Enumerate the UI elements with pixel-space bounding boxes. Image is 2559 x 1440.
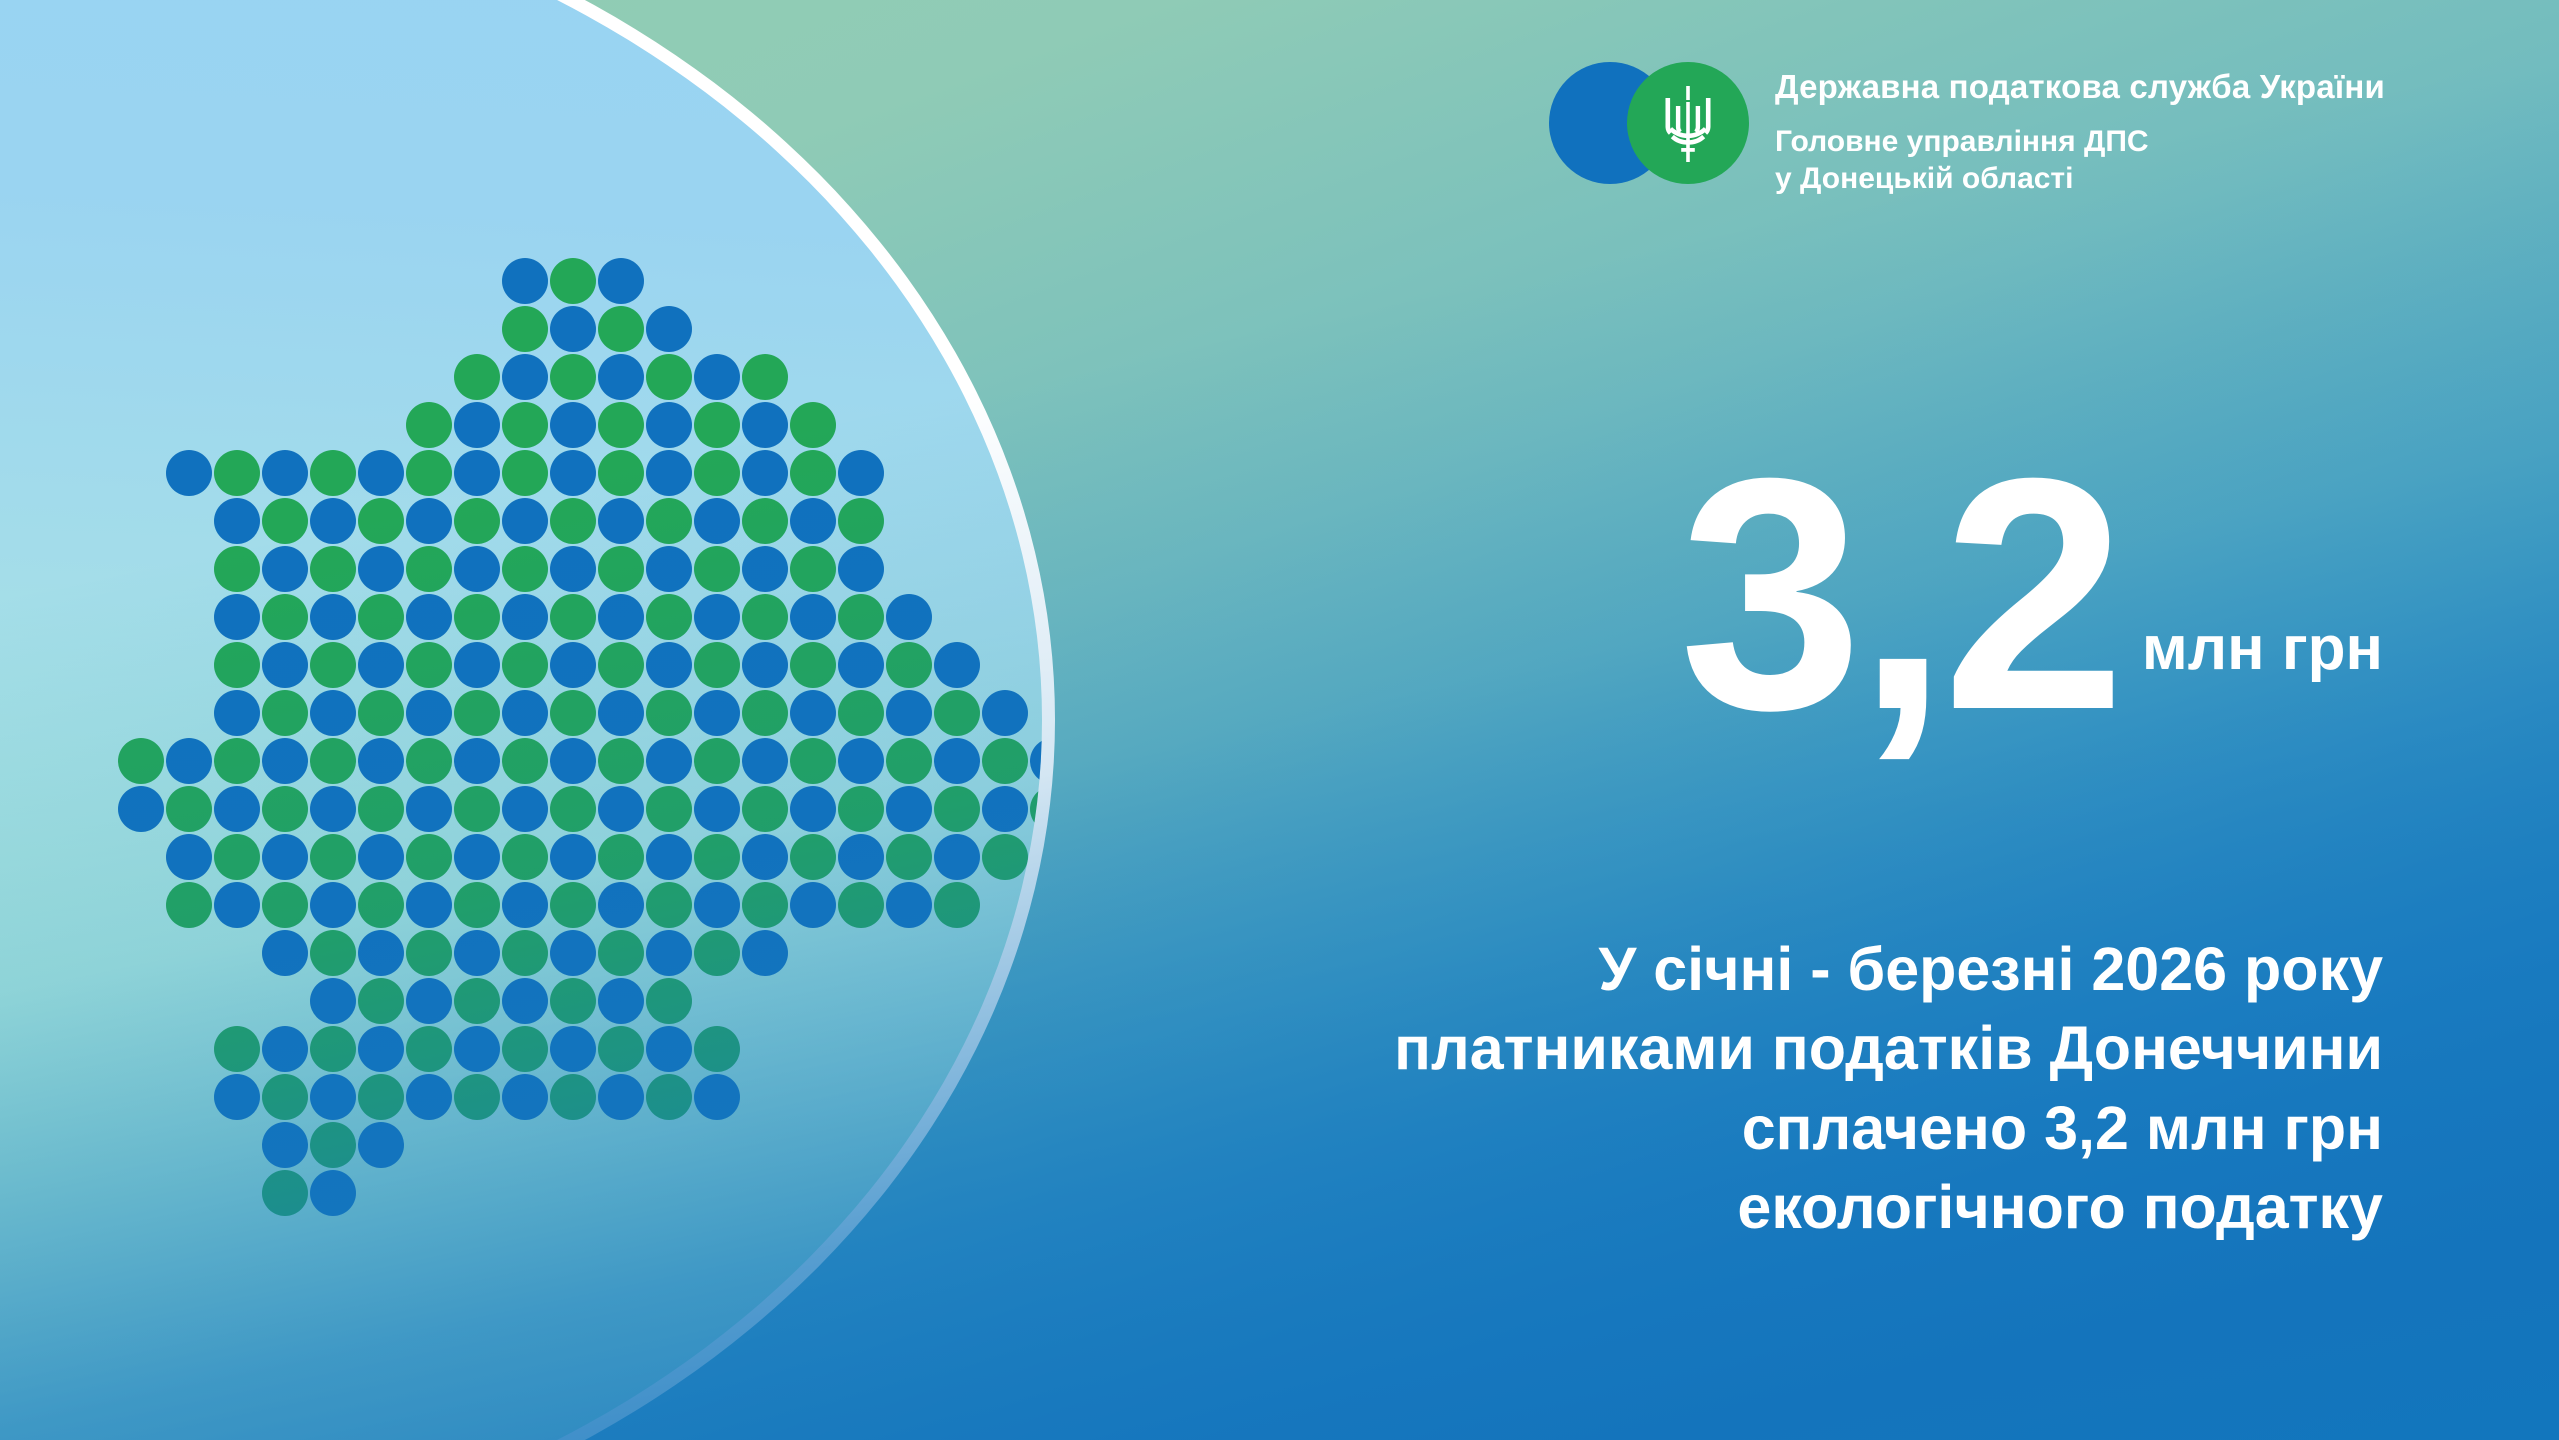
map-dot <box>406 498 452 544</box>
headline-line: екологічного податку <box>1063 1168 2383 1247</box>
map-dot <box>790 786 836 832</box>
map-dot <box>598 930 644 976</box>
headline-line: У січні - березні 2026 року <box>1063 930 2383 1009</box>
map-dot <box>694 498 740 544</box>
map-dot <box>262 1170 308 1216</box>
map-dot <box>310 930 356 976</box>
map-dot <box>742 594 788 640</box>
map-dot <box>310 690 356 736</box>
map-dot <box>214 546 260 592</box>
map-dot <box>262 642 308 688</box>
map-dot <box>790 738 836 784</box>
map-dot <box>550 690 596 736</box>
map-dot <box>310 1122 356 1168</box>
map-dot <box>166 882 212 928</box>
map-dot <box>454 1026 500 1072</box>
map-dot <box>742 450 788 496</box>
map-dot <box>646 594 692 640</box>
map-dot <box>454 738 500 784</box>
organization-name: Державна податкова служба України <box>1775 68 2385 107</box>
map-dot <box>646 354 692 400</box>
map-dot <box>262 1122 308 1168</box>
map-dot <box>454 498 500 544</box>
map-dot <box>502 738 548 784</box>
map-dot <box>838 738 884 784</box>
map-dot <box>406 738 452 784</box>
map-dot <box>406 1026 452 1072</box>
map-dot <box>406 594 452 640</box>
map-dot <box>790 498 836 544</box>
map-dot <box>406 450 452 496</box>
map-dot <box>454 930 500 976</box>
figure-value: 3,2 <box>1679 452 2120 736</box>
map-dot <box>502 450 548 496</box>
map-dot <box>550 402 596 448</box>
map-dot <box>694 690 740 736</box>
map-dot <box>454 882 500 928</box>
map-dot <box>358 738 404 784</box>
map-dot <box>886 594 932 640</box>
map-dot <box>742 786 788 832</box>
map-dot <box>694 834 740 880</box>
map-dot <box>790 882 836 928</box>
map-dot <box>406 882 452 928</box>
map-dot <box>406 402 452 448</box>
map-dot <box>694 546 740 592</box>
map-dot <box>310 1026 356 1072</box>
map-dot <box>598 450 644 496</box>
map-dot <box>742 498 788 544</box>
map-dot <box>310 1170 356 1216</box>
map-dot <box>454 978 500 1024</box>
map-dot <box>646 642 692 688</box>
map-dot <box>1030 786 1055 832</box>
map-dot <box>214 690 260 736</box>
map-dot <box>694 402 740 448</box>
map-dot <box>742 834 788 880</box>
map-dot <box>358 690 404 736</box>
map-dot <box>310 834 356 880</box>
map-dot <box>790 690 836 736</box>
map-dot <box>646 930 692 976</box>
map-dot <box>166 786 212 832</box>
map-dot <box>742 930 788 976</box>
map-dot <box>790 450 836 496</box>
map-dot <box>310 594 356 640</box>
map-dot <box>694 786 740 832</box>
map-dot <box>262 786 308 832</box>
map-dot <box>550 258 596 304</box>
map-dot <box>454 786 500 832</box>
map-dot <box>646 402 692 448</box>
map-dot <box>646 978 692 1024</box>
map-dot <box>838 690 884 736</box>
map-dot <box>310 642 356 688</box>
map-dot <box>502 882 548 928</box>
map-dot <box>454 642 500 688</box>
agency-logo <box>1549 62 1749 184</box>
map-dot <box>598 1026 644 1072</box>
map-dot <box>790 834 836 880</box>
map-dot <box>502 498 548 544</box>
map-dot <box>214 498 260 544</box>
map-dot <box>934 834 980 880</box>
map-dot <box>262 1074 308 1120</box>
map-dot <box>502 690 548 736</box>
map-dot <box>646 546 692 592</box>
map-dot <box>742 546 788 592</box>
map-dot <box>694 594 740 640</box>
map-dot <box>838 450 884 496</box>
map-dot <box>598 642 644 688</box>
map-dot <box>358 786 404 832</box>
map-dot <box>358 1026 404 1072</box>
map-dot <box>598 546 644 592</box>
map-dot <box>838 642 884 688</box>
map-dot <box>502 930 548 976</box>
map-dot <box>406 690 452 736</box>
map-dot <box>406 834 452 880</box>
map-dot <box>742 402 788 448</box>
map-dot <box>646 834 692 880</box>
map-dot <box>550 738 596 784</box>
map-dot <box>934 786 980 832</box>
left-oval-panel <box>0 0 1055 1440</box>
map-dot <box>646 1026 692 1072</box>
map-dot <box>358 978 404 1024</box>
map-dot <box>886 834 932 880</box>
tryzub-icon <box>1657 86 1719 162</box>
map-dot <box>406 930 452 976</box>
map-dot <box>838 594 884 640</box>
map-dot <box>646 690 692 736</box>
map-dot <box>454 834 500 880</box>
headline-line: сплачено 3,2 млн грн <box>1063 1089 2383 1168</box>
map-dot <box>646 306 692 352</box>
map-dot <box>550 594 596 640</box>
map-dot <box>598 738 644 784</box>
map-dot <box>262 930 308 976</box>
map-dot <box>214 594 260 640</box>
map-dot <box>598 594 644 640</box>
brand-header: Державна податкова служба України Головн… <box>1549 62 2385 197</box>
map-dot <box>454 546 500 592</box>
infographic-poster: Державна податкова служба України Головн… <box>0 0 2559 1440</box>
map-dot <box>790 642 836 688</box>
map-dot <box>694 642 740 688</box>
map-dot <box>934 882 980 928</box>
map-dot <box>502 402 548 448</box>
map-dot <box>982 690 1028 736</box>
map-dot <box>502 642 548 688</box>
map-dot <box>358 450 404 496</box>
map-dot <box>502 786 548 832</box>
map-dot <box>550 546 596 592</box>
map-dot <box>838 546 884 592</box>
map-dot <box>742 738 788 784</box>
map-dot <box>358 498 404 544</box>
map-dot <box>358 546 404 592</box>
map-dot <box>502 258 548 304</box>
map-dot <box>262 1026 308 1072</box>
map-dot <box>982 834 1028 880</box>
map-dot <box>694 450 740 496</box>
map-dot <box>598 402 644 448</box>
map-dot <box>262 690 308 736</box>
map-dot <box>646 498 692 544</box>
map-dot <box>262 594 308 640</box>
map-dot <box>694 738 740 784</box>
map-dot <box>262 498 308 544</box>
map-dot <box>598 498 644 544</box>
map-dot <box>502 594 548 640</box>
map-dot <box>550 882 596 928</box>
map-dot <box>214 1026 260 1072</box>
map-dot <box>358 1122 404 1168</box>
map-dot <box>214 1074 260 1120</box>
map-dot <box>358 834 404 880</box>
map-dot <box>646 738 692 784</box>
map-dot <box>598 882 644 928</box>
map-dot <box>550 354 596 400</box>
map-dot <box>406 546 452 592</box>
map-dot <box>310 738 356 784</box>
map-dot <box>934 738 980 784</box>
map-dot <box>550 930 596 976</box>
map-dot <box>406 1074 452 1120</box>
map-dot <box>790 402 836 448</box>
map-dot <box>502 546 548 592</box>
map-dot <box>598 690 644 736</box>
headline-line: платниками податків Донеччини <box>1063 1009 2383 1088</box>
map-dot <box>550 306 596 352</box>
map-dot <box>214 642 260 688</box>
map-dot <box>886 738 932 784</box>
map-dot <box>790 546 836 592</box>
map-dot <box>358 1074 404 1120</box>
map-dot <box>406 786 452 832</box>
map-dot <box>646 882 692 928</box>
map-dot <box>262 450 308 496</box>
map-dot <box>598 978 644 1024</box>
map-dot <box>310 498 356 544</box>
map-dot <box>790 594 836 640</box>
map-dot <box>214 738 260 784</box>
map-dot <box>406 978 452 1024</box>
map-dot <box>502 1026 548 1072</box>
map-dot <box>550 642 596 688</box>
department-name: Головне управління ДПС у Донецькій облас… <box>1775 124 2385 197</box>
map-dot <box>886 786 932 832</box>
map-dot <box>502 978 548 1024</box>
map-dot <box>406 642 452 688</box>
map-dot <box>262 738 308 784</box>
map-dot <box>598 258 644 304</box>
map-dot <box>262 546 308 592</box>
map-dot <box>454 450 500 496</box>
map-dot <box>694 1074 740 1120</box>
map-dot <box>454 402 500 448</box>
map-dot <box>166 738 212 784</box>
map-dot <box>262 882 308 928</box>
map-dot <box>550 450 596 496</box>
map-dot <box>598 834 644 880</box>
map-dot <box>886 882 932 928</box>
map-dot <box>358 882 404 928</box>
map-dot <box>502 1074 548 1120</box>
map-dot <box>310 786 356 832</box>
map-dot <box>646 786 692 832</box>
map-dot <box>502 354 548 400</box>
map-dot <box>1030 738 1055 784</box>
map-dot <box>358 642 404 688</box>
headline-text: У січні - березні 2026 рокуплатниками по… <box>1063 930 2383 1247</box>
map-dot <box>310 978 356 1024</box>
map-dot <box>646 450 692 496</box>
map-dot <box>838 498 884 544</box>
key-figure: 3,2 млн грн <box>1679 452 2383 736</box>
map-dot <box>502 834 548 880</box>
map-dot <box>694 354 740 400</box>
map-dot <box>550 1026 596 1072</box>
map-dot <box>598 306 644 352</box>
map-dot <box>214 834 260 880</box>
map-dot <box>550 498 596 544</box>
map-dot <box>598 786 644 832</box>
map-dot <box>742 690 788 736</box>
map-dot <box>118 738 164 784</box>
map-dot <box>310 546 356 592</box>
map-dot <box>358 930 404 976</box>
map-dot <box>502 306 548 352</box>
map-dot <box>550 834 596 880</box>
map-dot <box>982 786 1028 832</box>
map-dot <box>838 834 884 880</box>
map-dot <box>214 450 260 496</box>
map-dot <box>358 594 404 640</box>
map-dot <box>598 1074 644 1120</box>
map-dot <box>454 1074 500 1120</box>
map-dot <box>598 354 644 400</box>
figure-unit: млн грн <box>2120 618 2383 736</box>
map-dot <box>838 882 884 928</box>
map-dot <box>550 786 596 832</box>
map-dot <box>694 930 740 976</box>
map-dot <box>262 834 308 880</box>
map-dot <box>694 882 740 928</box>
brand-header-text: Державна податкова служба України Головн… <box>1775 62 2385 197</box>
map-dot <box>310 450 356 496</box>
map-dot <box>550 978 596 1024</box>
map-dot <box>454 690 500 736</box>
map-dot <box>166 450 212 496</box>
map-dot <box>982 738 1028 784</box>
map-dot <box>214 786 260 832</box>
map-dot <box>166 834 212 880</box>
map-dot <box>742 354 788 400</box>
map-dot <box>694 1026 740 1072</box>
map-dot <box>934 690 980 736</box>
map-dot <box>214 882 260 928</box>
map-dot <box>934 642 980 688</box>
map-dot <box>742 882 788 928</box>
map-dot <box>838 786 884 832</box>
map-dot <box>454 354 500 400</box>
map-dot <box>646 1074 692 1120</box>
map-dot <box>886 642 932 688</box>
map-dot <box>454 594 500 640</box>
map-dot <box>310 882 356 928</box>
map-dot <box>886 690 932 736</box>
map-dot <box>550 1074 596 1120</box>
map-dot <box>310 1074 356 1120</box>
map-dot <box>118 786 164 832</box>
map-dot <box>742 642 788 688</box>
